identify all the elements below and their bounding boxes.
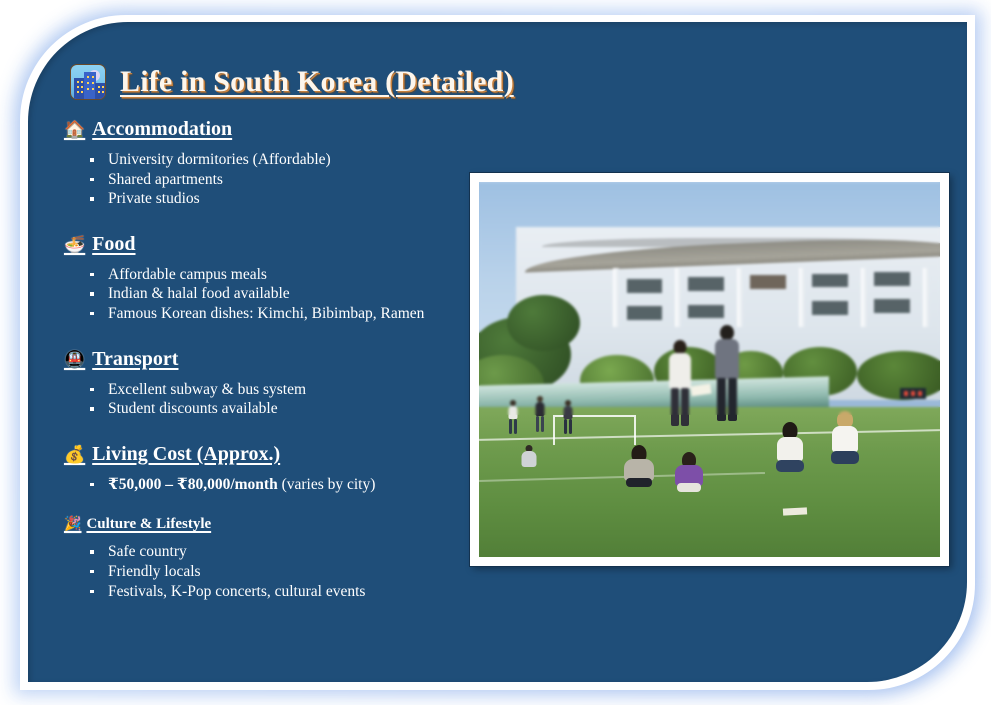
photo-papers — [690, 383, 711, 396]
list-item: Student discounts available — [108, 399, 484, 419]
list-item: Famous Korean dishes: Kimchi, Bibimbap, … — [108, 304, 484, 324]
spacer — [64, 326, 484, 348]
section-heading-label: Food — [92, 233, 135, 256]
ramen-bowl-icon: 🍜 — [64, 236, 85, 253]
cityscape-icon — [70, 64, 106, 100]
section-heading-label: Accommodation — [92, 118, 232, 141]
section-heading-food: 🍜 Food — [64, 233, 136, 256]
section-living-cost: 💰 Living Cost (Approx.) ₹50,000 – ₹80,00… — [64, 443, 484, 495]
cost-amount: ₹50,000 – ₹80,000/month — [108, 476, 278, 493]
spacer — [64, 211, 484, 233]
section-food: 🍜 Food Affordable campus meals Indian & … — [64, 233, 484, 324]
list-item: Safe country — [108, 542, 484, 562]
campus-photo — [479, 182, 940, 557]
money-bag-icon: 💰 — [64, 446, 85, 463]
list-item: Private studios — [108, 189, 484, 209]
section-transport: 🚇 Transport Excellent subway & bus syste… — [64, 348, 484, 419]
photo-tree — [507, 295, 581, 351]
photo-person — [774, 422, 806, 474]
list-item: Festivals, K-Pop concerts, cultural even… — [108, 582, 484, 602]
list-item: Shared apartments — [108, 170, 484, 190]
fireworks-icon: 🎉 — [64, 518, 81, 532]
photo-person — [520, 445, 538, 467]
section-heading-accommodation: 🏠 Accommodation — [64, 118, 232, 141]
section-heading-label: Culture & Lifestyle — [86, 516, 211, 533]
bullet-list-food: Affordable campus meals Indian & halal f… — [64, 265, 484, 324]
page-title: Life in South Korea (Detailed) — [120, 65, 514, 99]
photo-person — [714, 325, 740, 421]
bullet-list-accommodation: University dormitories (Affordable) Shar… — [64, 150, 484, 209]
section-heading-living-cost: 💰 Living Cost (Approx.) — [64, 443, 280, 466]
section-heading-transport: 🚇 Transport — [64, 348, 178, 371]
photo-person — [829, 411, 861, 467]
section-heading-label: Living Cost (Approx.) — [92, 443, 280, 466]
slide: Life in South Korea (Detailed) 🏠 Accommo… — [0, 0, 991, 705]
slide-panel: Life in South Korea (Detailed) 🏠 Accommo… — [28, 22, 967, 682]
photo-person — [622, 445, 656, 485]
spacer — [64, 496, 484, 516]
slide-header: Life in South Korea (Detailed) — [70, 64, 514, 100]
photo-person — [673, 452, 705, 490]
photo-field — [479, 407, 940, 557]
metro-icon: 🚇 — [64, 351, 85, 368]
list-item: Indian & halal food available — [108, 284, 484, 304]
photo-person — [507, 400, 519, 434]
section-heading-label: Transport — [92, 348, 178, 371]
cost-note: (varies by city) — [278, 476, 376, 493]
photo-person — [562, 400, 574, 434]
list-item: Affordable campus meals — [108, 265, 484, 285]
section-accommodation: 🏠 Accommodation University dormitories (… — [64, 118, 484, 209]
section-culture-lifestyle: 🎉 Culture & Lifestyle Safe country Frien… — [64, 516, 484, 601]
bullet-list-transport: Excellent subway & bus system Student di… — [64, 380, 484, 419]
campus-photo-frame — [470, 173, 949, 566]
list-item: University dormitories (Affordable) — [108, 150, 484, 170]
bullet-list-culture-lifestyle: Safe country Friendly locals Festivals, … — [64, 542, 484, 601]
list-item: Excellent subway & bus system — [108, 380, 484, 400]
bullet-list-living-cost: ₹50,000 – ₹80,000/month (varies by city) — [64, 475, 484, 495]
photo-person — [668, 340, 692, 426]
spacer — [64, 421, 484, 443]
list-item: Friendly locals — [108, 562, 484, 582]
content-column: 🏠 Accommodation University dormitories (… — [64, 118, 484, 603]
list-item: ₹50,000 – ₹80,000/month (varies by city) — [108, 475, 484, 495]
section-heading-culture-lifestyle: 🎉 Culture & Lifestyle — [64, 516, 211, 533]
photo-person — [534, 396, 546, 432]
house-icon: 🏠 — [64, 121, 85, 138]
